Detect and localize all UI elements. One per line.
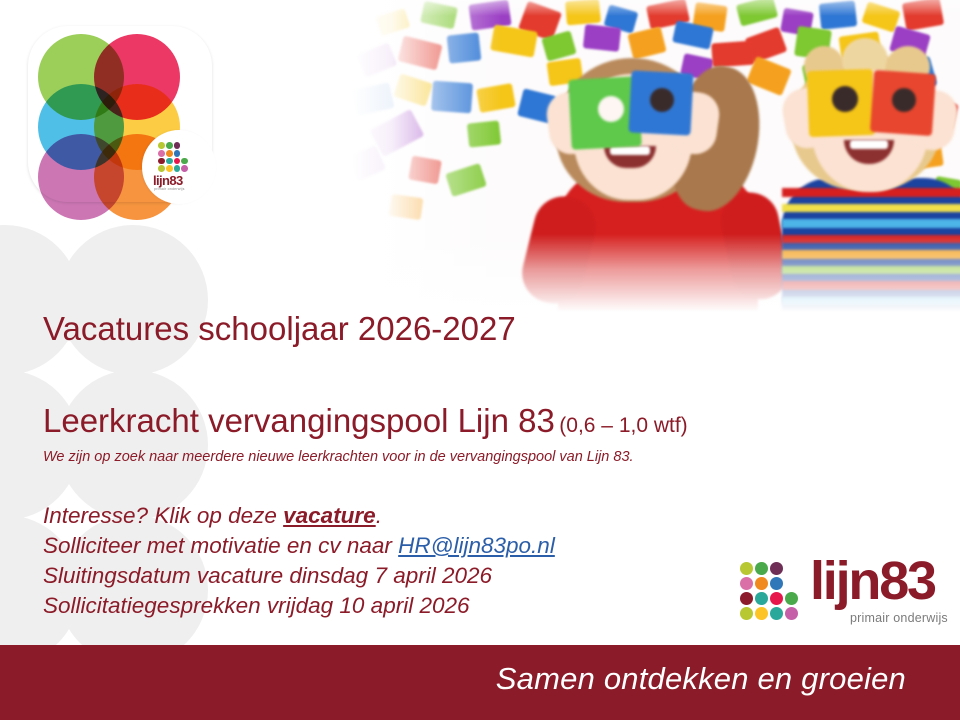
brand-subtitle: primair onderwijs [850, 611, 948, 625]
brand-dot-7 [785, 577, 798, 590]
brand-dot-14 [770, 607, 783, 620]
brand-dot-15 [785, 607, 798, 620]
cta-text-block: Interesse? Klik op deze vacature. Sollic… [43, 501, 555, 621]
footer-tagline: Samen ontdekken en groeien [496, 661, 906, 697]
lijn83-brand-logo: lijn83 primair onderwijs [736, 556, 948, 632]
brand-dot-3 [785, 562, 798, 575]
cta-line-vacature: Interesse? Klik op deze vacature. [43, 501, 555, 531]
brand-dot-0 [740, 562, 753, 575]
brand-dot-11 [785, 592, 798, 605]
brand-dot-6 [770, 577, 783, 590]
brand-dot-2 [770, 562, 783, 575]
brand-dot-10 [770, 592, 783, 605]
cta-line2-prefix: Solliciteer met motivatie en cv naar [43, 533, 398, 558]
brand-dot-1 [755, 562, 768, 575]
brand-wordmark: lijn83 [810, 554, 935, 608]
job-subtitle: We zijn op zoek naar meerdere nieuwe lee… [43, 449, 634, 466]
cta-line-deadline: Sluitingsdatum vacature dinsdag 7 april … [43, 561, 555, 591]
brand-dot-4 [740, 577, 753, 590]
page-title: Vacatures schooljaar 2026-2027 [43, 312, 516, 347]
brand-dot-9 [755, 592, 768, 605]
vacature-link[interactable]: vacature [283, 503, 376, 528]
brand-dot-8 [740, 592, 753, 605]
job-title: Leerkracht vervangingspool Lijn 83 [43, 402, 555, 439]
brand-dot-12 [740, 607, 753, 620]
brand-dot-grid [740, 562, 798, 620]
content-layer: Vacatures schooljaar 2026-2027 Leerkrach… [0, 0, 960, 720]
cta-line-interviews: Sollicitatiegesprekken vrijdag 10 april … [43, 591, 555, 621]
brand-dot-5 [755, 577, 768, 590]
email-link[interactable]: HR@lijn83po.nl [398, 533, 555, 558]
cta-line-email: Solliciteer met motivatie en cv naar HR@… [43, 531, 555, 561]
job-fte-range: (0,6 – 1,0 wtf) [559, 414, 687, 437]
cta-line1-prefix: Interesse? Klik op deze [43, 503, 283, 528]
poster-canvas: lijn83 primair onderwijs Vacatures schoo… [0, 0, 960, 720]
brand-dot-13 [755, 607, 768, 620]
job-heading: Leerkracht vervangingspool Lijn 83 (0,6 … [43, 404, 688, 439]
footer-bar: Samen ontdekken en groeien [0, 645, 960, 720]
cta-line1-suffix: . [376, 503, 382, 528]
